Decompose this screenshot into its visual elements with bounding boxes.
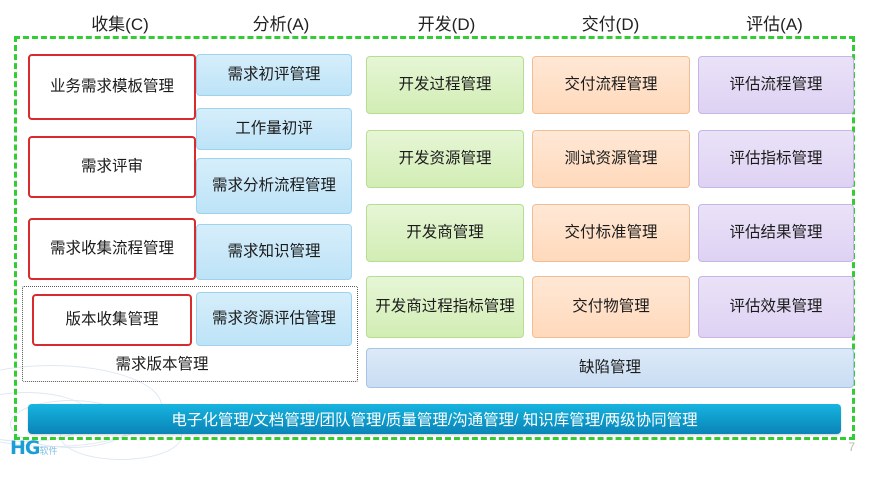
card-developer-management[interactable]: 开发商管理 xyxy=(366,204,524,262)
card-requirement-review[interactable]: 需求评审 xyxy=(28,136,196,198)
card-workload-preliminary-evaluation[interactable]: 工作量初评 xyxy=(196,108,352,150)
card-defect-management[interactable]: 缺陷管理 xyxy=(366,348,854,388)
card-evaluation-effect-management[interactable]: 评估效果管理 xyxy=(698,276,854,338)
card-requirement-collection-process-management[interactable]: 需求收集流程管理 xyxy=(28,218,196,280)
card-developer-process-metrics-management[interactable]: 开发商过程指标管理 xyxy=(366,276,524,338)
card-delivery-process-management[interactable]: 交付流程管理 xyxy=(532,56,690,114)
card-test-resource-management[interactable]: 测试资源管理 xyxy=(532,130,690,188)
column-header-evaluation: 评估(A) xyxy=(692,10,857,35)
card-business-requirement-template-management[interactable]: 业务需求模板管理 xyxy=(28,54,196,120)
logo-text: HG xyxy=(10,437,40,459)
foundation-services-bar: 电子化管理/文档管理/团队管理/质量管理/沟通管理/ 知识库管理/两级协同管理 xyxy=(28,404,841,434)
card-requirement-analysis-process-management[interactable]: 需求分析流程管理 xyxy=(196,158,352,214)
column-header-delivery: 交付(D) xyxy=(528,10,693,35)
page-number: 7 xyxy=(848,440,855,454)
column-headers: 收集(C) 分析(A) 开发(D) 交付(D) 评估(A) xyxy=(0,6,869,36)
card-requirement-knowledge-management[interactable]: 需求知识管理 xyxy=(196,224,352,280)
card-delivery-standard-management[interactable]: 交付标准管理 xyxy=(532,204,690,262)
card-development-process-management[interactable]: 开发过程管理 xyxy=(366,56,524,114)
column-header-analysis: 分析(A) xyxy=(196,10,366,35)
card-development-resource-management[interactable]: 开发资源管理 xyxy=(366,130,524,188)
column-header-collect: 收集(C) xyxy=(30,10,210,35)
card-evaluation-result-management[interactable]: 评估结果管理 xyxy=(698,204,854,262)
company-logo: HG软件 xyxy=(10,437,58,459)
column-header-development: 开发(D) xyxy=(364,10,529,35)
card-deliverable-management[interactable]: 交付物管理 xyxy=(532,276,690,338)
card-evaluation-process-management[interactable]: 评估流程管理 xyxy=(698,56,854,114)
card-evaluation-metrics-management[interactable]: 评估指标管理 xyxy=(698,130,854,188)
card-requirement-preliminary-evaluation-management[interactable]: 需求初评管理 xyxy=(196,54,352,96)
card-requirement-resource-evaluation-management[interactable]: 需求资源评估管理 xyxy=(196,292,352,346)
requirement-version-management-label: 需求版本管理 xyxy=(22,352,302,374)
logo-subtext: 软件 xyxy=(40,447,58,457)
card-version-collection-management[interactable]: 版本收集管理 xyxy=(32,294,192,346)
